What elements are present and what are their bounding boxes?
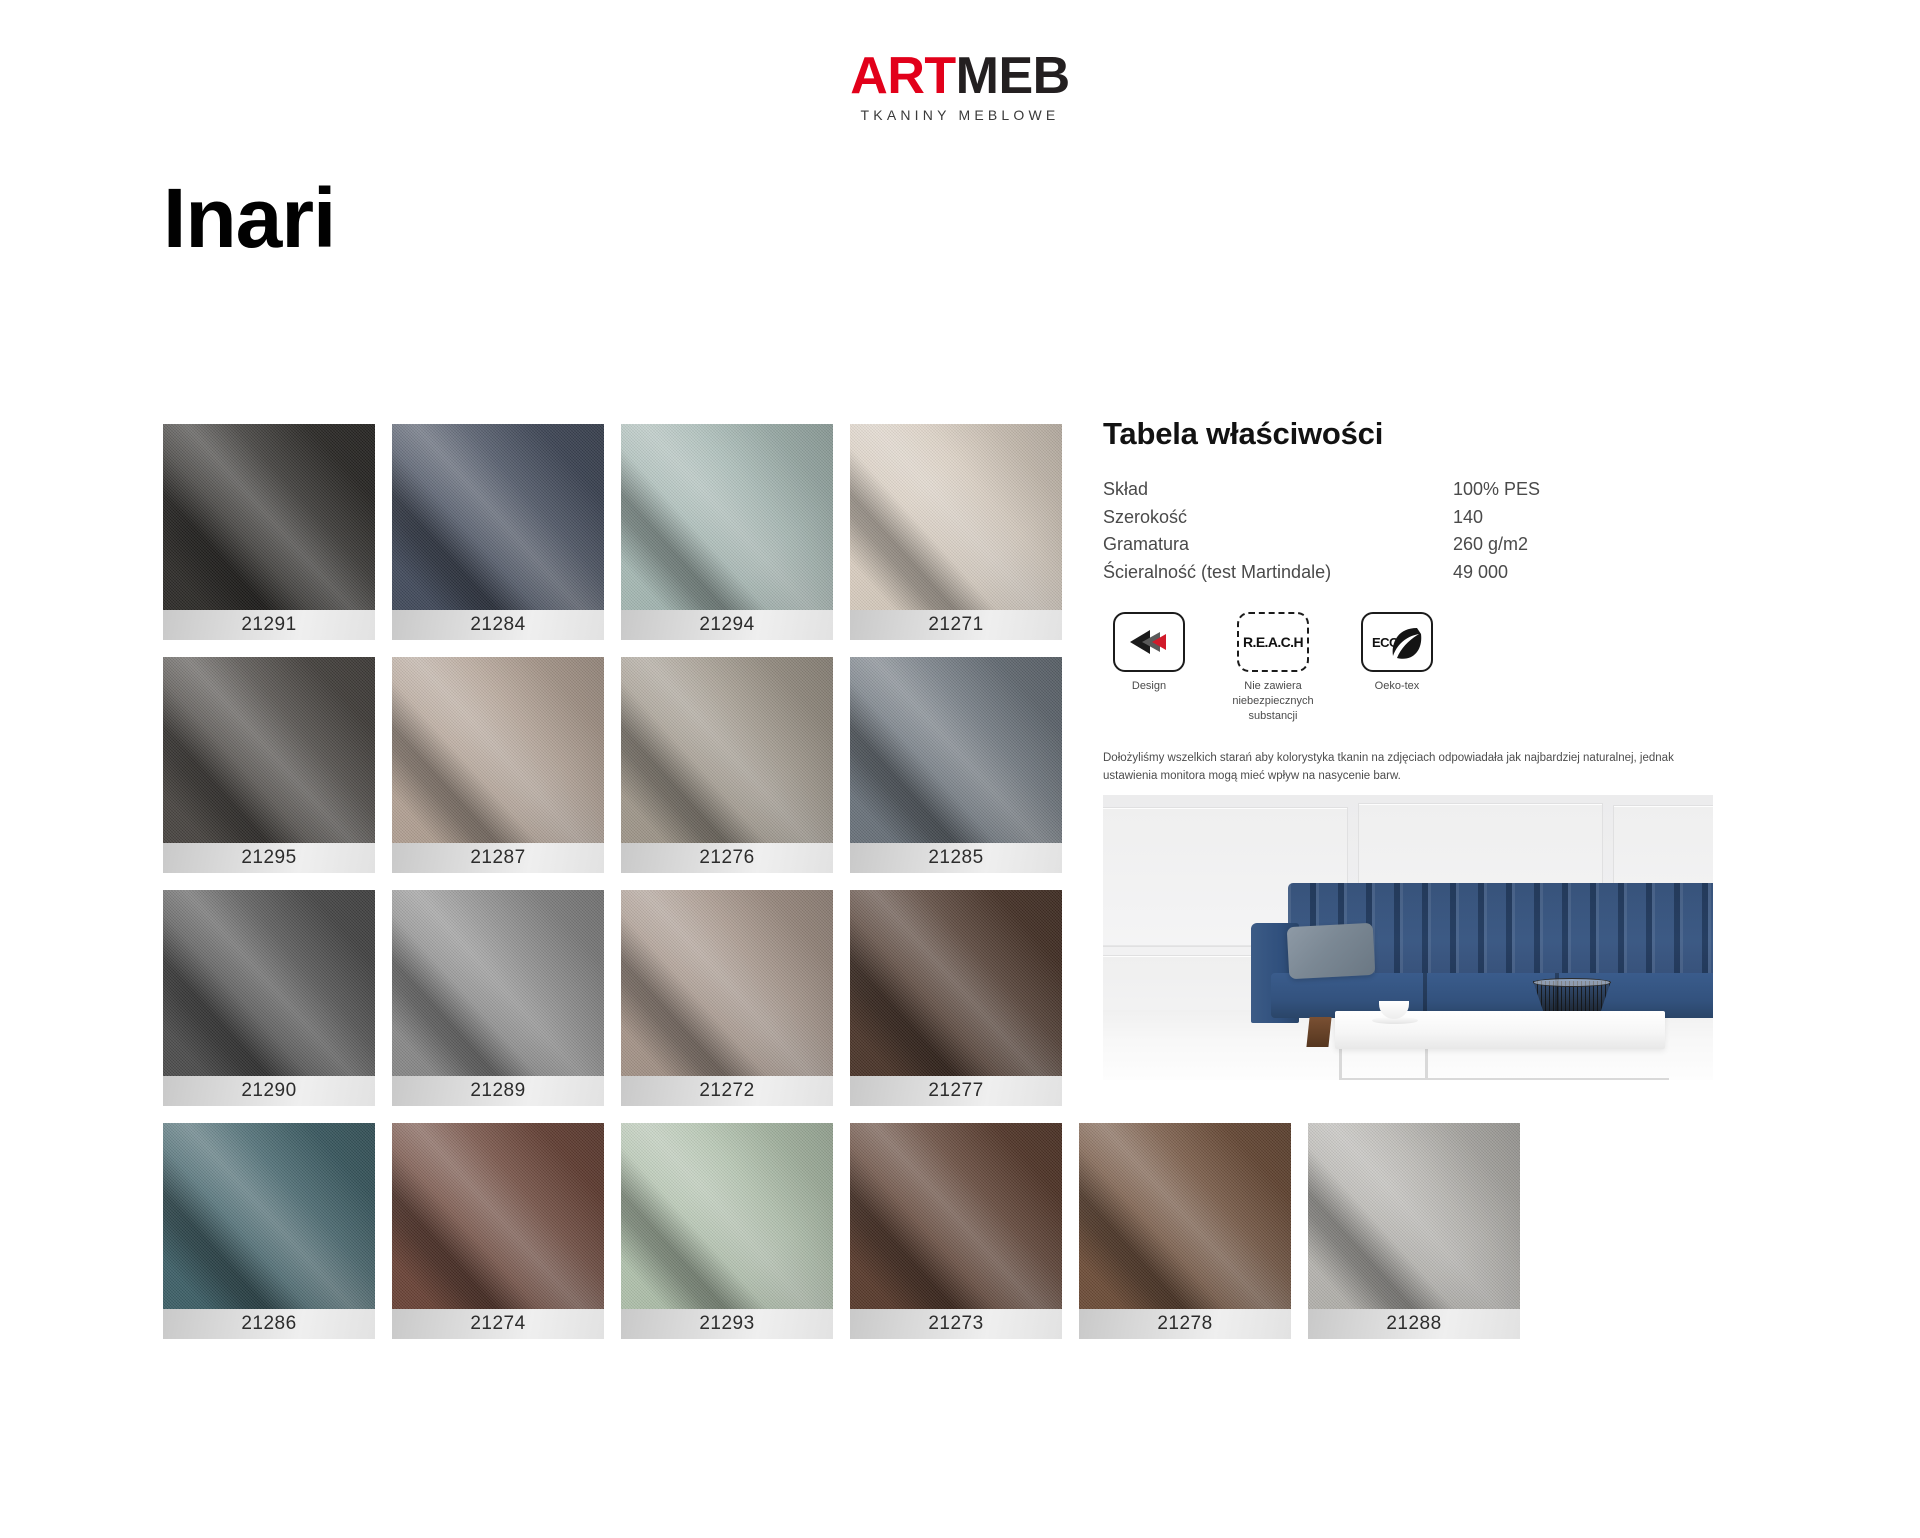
swatch-21272[interactable]: 21272	[621, 890, 833, 1106]
swatch-code: 21288	[1386, 1313, 1441, 1335]
design-arrow-icon	[1113, 612, 1185, 672]
swatch-21285[interactable]: 21285	[850, 657, 1062, 873]
fabric-weave-texture	[850, 424, 1062, 610]
fabric-weave-texture	[392, 424, 604, 610]
swatch-row: 212862127421293212732127821288	[163, 1123, 1553, 1339]
table-leg	[1339, 1045, 1342, 1080]
property-row: Skład100% PES	[1103, 476, 1713, 504]
swatch-label: 21272	[621, 1076, 833, 1106]
swatch-image	[392, 424, 604, 610]
logo-tagline: TKANINY MEBLOWE	[0, 107, 1920, 123]
property-value: 100% PES	[1453, 476, 1713, 504]
swatch-image	[392, 1123, 604, 1309]
swatch-image	[163, 1123, 375, 1309]
swatch-21289[interactable]: 21289	[392, 890, 604, 1106]
swatch-label: 21273	[850, 1309, 1062, 1339]
room-scene-photo	[1103, 795, 1713, 1080]
logo-art-text: ART	[850, 47, 955, 105]
swatch-image	[163, 657, 375, 843]
swatch-label: 21274	[392, 1309, 604, 1339]
swatch-21273[interactable]: 21273	[850, 1123, 1062, 1339]
swatch-code: 21287	[470, 847, 525, 869]
badge-reach: R.E.A.C.HNie zawiera niebezpiecznych sub…	[1227, 612, 1319, 724]
swatch-21291[interactable]: 21291	[163, 424, 375, 640]
swatch-label: 21290	[163, 1076, 375, 1106]
reach-icon: R.E.A.C.H	[1237, 612, 1309, 672]
swatch-image	[1308, 1123, 1520, 1309]
property-label: Ścieralność (test Martindale)	[1103, 559, 1453, 587]
fabric-weave-texture	[163, 890, 375, 1076]
swatch-label: 21278	[1079, 1309, 1291, 1339]
swatch-code: 21277	[928, 1080, 983, 1102]
swatch-code: 21274	[470, 1313, 525, 1335]
swatch-21271[interactable]: 21271	[850, 424, 1062, 640]
table-leg	[1425, 1045, 1428, 1080]
table-leg	[1339, 1078, 1669, 1080]
swatch-label: 21286	[163, 1309, 375, 1339]
swatch-image	[621, 890, 833, 1076]
eco-leaf-icon: ECO	[1361, 612, 1433, 672]
swatch-label: 21287	[392, 843, 604, 873]
swatch-label: 21285	[850, 843, 1062, 873]
swatch-image	[621, 424, 833, 610]
fabric-weave-texture	[850, 1123, 1062, 1309]
swatch-label: 21293	[621, 1309, 833, 1339]
property-row: Szerokość140	[1103, 504, 1713, 532]
fabric-weave-texture	[392, 890, 604, 1076]
swatch-image	[163, 890, 375, 1076]
swatch-21294[interactable]: 21294	[621, 424, 833, 640]
swatch-code: 21290	[241, 1080, 296, 1102]
fabric-weave-texture	[621, 1123, 833, 1309]
disclaimer-paragraph-1: Dołożyliśmy wszelkich starań aby kolorys…	[1103, 750, 1698, 786]
swatch-21278[interactable]: 21278	[1079, 1123, 1291, 1339]
swatch-label: 21277	[850, 1076, 1062, 1106]
badge-caption: Nie zawiera niebezpiecznych substancji	[1227, 679, 1319, 724]
swatch-code: 21294	[699, 614, 754, 636]
swatch-code: 21272	[699, 1080, 754, 1102]
swatch-21274[interactable]: 21274	[392, 1123, 604, 1339]
swatch-label: 21294	[621, 610, 833, 640]
swatch-code: 21289	[470, 1080, 525, 1102]
fabric-weave-texture	[621, 424, 833, 610]
swatch-code: 21276	[699, 847, 754, 869]
swatch-image	[850, 890, 1062, 1076]
fabric-weave-texture	[163, 1123, 375, 1309]
swatch-image	[1079, 1123, 1291, 1309]
swatch-21288[interactable]: 21288	[1308, 1123, 1520, 1339]
swatch-image	[850, 424, 1062, 610]
swatch-code: 21293	[699, 1313, 754, 1335]
swatch-code: 21295	[241, 847, 296, 869]
swatch-code: 21286	[241, 1313, 296, 1335]
swatch-21290[interactable]: 21290	[163, 890, 375, 1106]
fabric-weave-texture	[1079, 1123, 1291, 1309]
fabric-weave-texture	[392, 657, 604, 843]
swatch-image	[850, 657, 1062, 843]
swatch-image	[392, 657, 604, 843]
fabric-weave-texture	[392, 1123, 604, 1309]
swatch-image	[163, 424, 375, 610]
fabric-weave-texture	[163, 657, 375, 843]
swatch-code: 21291	[241, 614, 296, 636]
swatch-21286[interactable]: 21286	[163, 1123, 375, 1339]
swatch-label: 21276	[621, 843, 833, 873]
properties-title: Tabela właściwości	[1103, 416, 1713, 452]
logo-meb-text: MEB	[956, 47, 1070, 105]
swatch-label: 21271	[850, 610, 1062, 640]
swatch-21277[interactable]: 21277	[850, 890, 1062, 1106]
badge-caption: Design	[1103, 679, 1195, 694]
badge-caption: Oeko-tex	[1351, 679, 1443, 694]
certification-badges: DesignR.E.A.C.HNie zawiera niebezpieczny…	[1103, 612, 1713, 724]
property-label: Gramatura	[1103, 531, 1453, 559]
badge-design-arrow: Design	[1103, 612, 1195, 724]
swatch-label: 21288	[1308, 1309, 1520, 1339]
fabric-weave-texture	[621, 657, 833, 843]
throw-pillow	[1287, 923, 1376, 979]
brand-logo: ARTMEB TKANINY MEBLOWE	[0, 50, 1920, 123]
design-arrow-glyph	[1126, 626, 1172, 658]
properties-table: Skład100% PESSzerokość140Gramatura260 g/…	[1103, 476, 1713, 586]
badge-eco-leaf: ECOOeko-tex	[1351, 612, 1443, 724]
swatch-21276[interactable]: 21276	[621, 657, 833, 873]
logo-wordmark: ARTMEB	[0, 50, 1920, 102]
swatch-label: 21289	[392, 1076, 604, 1106]
property-value: 49 000	[1453, 559, 1713, 587]
swatch-label: 21291	[163, 610, 375, 640]
swatch-label: 21284	[392, 610, 604, 640]
swatch-image	[621, 1123, 833, 1309]
swatch-21287[interactable]: 21287	[392, 657, 604, 873]
property-value: 140	[1453, 504, 1713, 532]
swatch-image	[850, 1123, 1062, 1309]
swatch-code: 21278	[1157, 1313, 1212, 1335]
fabric-weave-texture	[850, 657, 1062, 843]
swatch-image	[621, 657, 833, 843]
leaf-glyph	[1363, 614, 1433, 672]
fabric-weave-texture	[163, 424, 375, 610]
swatch-code: 21285	[928, 847, 983, 869]
reach-label: R.E.A.C.H	[1243, 634, 1303, 650]
swatch-label: 21295	[163, 843, 375, 873]
fabric-weave-texture	[850, 890, 1062, 1076]
swatch-21284[interactable]: 21284	[392, 424, 604, 640]
property-row: Gramatura260 g/m2	[1103, 531, 1713, 559]
property-row: Ścieralność (test Martindale)49 000	[1103, 559, 1713, 587]
sofa-wooden-leg	[1306, 1017, 1331, 1047]
property-label: Skład	[1103, 476, 1453, 504]
swatch-21293[interactable]: 21293	[621, 1123, 833, 1339]
swatch-code: 21284	[470, 614, 525, 636]
swatch-21295[interactable]: 21295	[163, 657, 375, 873]
wire-basket-rim	[1533, 978, 1611, 987]
swatch-code: 21271	[928, 614, 983, 636]
properties-panel: Tabela właściwości Skład100% PESSzerokoś…	[1103, 416, 1713, 817]
fabric-weave-texture	[1308, 1123, 1520, 1309]
property-label: Szerokość	[1103, 504, 1453, 532]
fabric-collection-sheet: ARTMEB TKANINY MEBLOWE Inari 21291212842…	[0, 0, 1920, 1538]
page-title: Inari	[163, 176, 335, 260]
swatch-code: 21273	[928, 1313, 983, 1335]
fabric-weave-texture	[621, 890, 833, 1076]
property-value: 260 g/m2	[1453, 531, 1713, 559]
swatch-image	[392, 890, 604, 1076]
